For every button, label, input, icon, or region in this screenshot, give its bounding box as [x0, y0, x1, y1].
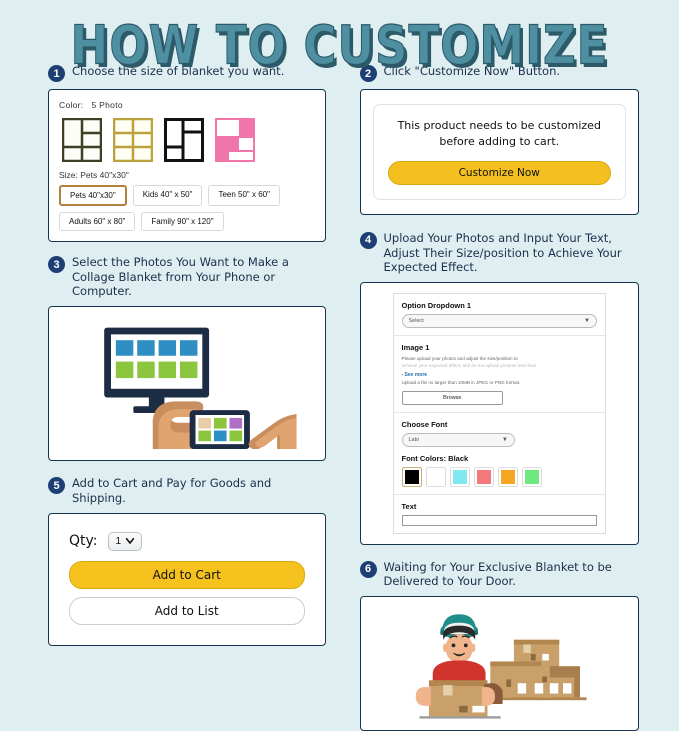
chevron-down-icon: ▼	[584, 318, 590, 324]
quantity-row: Qty: 1	[69, 532, 305, 551]
layout-thumbnail-gold[interactable]	[110, 115, 152, 161]
browse-button[interactable]: Browse	[402, 391, 504, 405]
page-header: HOW TO CUSTOMIZE	[0, 0, 679, 64]
customize-message: This product needs to be customized befo…	[388, 118, 612, 150]
option-dropdown-select[interactable]: Select ▼	[402, 314, 598, 328]
left-column: 1 Choose the size of blanket you want. C…	[14, 64, 340, 731]
font-section: Choose Font Lato ▼ Font Colors: Black	[394, 413, 606, 495]
option-dropdown-section: Option Dropdown 1 Select ▼	[394, 294, 606, 336]
step-4-panel: Option Dropdown 1 Select ▼ Image 1 Pleas…	[360, 282, 640, 545]
step-3-header: 3 Select the Photos You Want to Make a C…	[48, 255, 326, 299]
collage-selection-illustration	[55, 313, 319, 449]
font-value: Lato	[409, 437, 420, 443]
customize-prompt-card: This product needs to be customized befo…	[373, 104, 627, 200]
image-heading: Image 1	[402, 343, 598, 352]
step-3-panel	[48, 306, 326, 461]
step-6-panel	[360, 596, 640, 731]
swatch-black[interactable]	[402, 467, 422, 487]
chevron-down-icon	[126, 536, 134, 547]
step-6-number: 6	[360, 561, 377, 578]
color-value: 5 Photo	[91, 100, 122, 110]
chevron-down-icon: ▼	[502, 437, 508, 443]
step-3-number: 3	[48, 256, 65, 273]
quantity-value: 1	[116, 536, 122, 547]
text-heading: Text	[402, 502, 598, 511]
customizer-form: Option Dropdown 1 Select ▼ Image 1 Pleas…	[393, 293, 607, 534]
customize-now-button[interactable]: Customize Now	[388, 161, 612, 185]
font-select[interactable]: Lato ▼	[402, 433, 515, 447]
color-label: Color:	[59, 100, 83, 110]
image-upload-section: Image 1 Please upload your photos and ad…	[394, 336, 606, 413]
step-5-header: 5 Add to Cart and Pay for Goods and Ship…	[48, 476, 326, 505]
size-option-family[interactable]: Family 90" x 120"	[141, 212, 223, 231]
swatch-salmon[interactable]	[474, 467, 494, 487]
step-5-panel: Qty: 1 Add to Cart Add to List	[48, 513, 326, 646]
right-column: 2 Click "Customize Now" Button. This pro…	[340, 64, 666, 731]
font-color-swatches	[402, 467, 598, 487]
page-title: HOW TO CUSTOMIZE	[71, 14, 609, 77]
step-2-panel: This product needs to be customized befo…	[360, 89, 640, 215]
swatch-green[interactable]	[522, 467, 542, 487]
step-6-text: Waiting for Your Exclusive Blanket to be…	[384, 560, 640, 589]
swatch-cyan[interactable]	[450, 467, 470, 487]
layout-thumbnail-list	[59, 115, 315, 161]
size-option-adults[interactable]: Adults 60" x 80"	[59, 212, 135, 231]
add-to-cart-button[interactable]: Add to Cart	[69, 561, 305, 589]
size-option-teen[interactable]: Teen 50" x 60"	[208, 185, 280, 206]
quantity-stepper[interactable]: 1	[108, 532, 143, 551]
step-4-header: 4 Upload Your Photos and Input Your Text…	[360, 231, 640, 275]
swatch-orange[interactable]	[498, 467, 518, 487]
option-dropdown-heading: Option Dropdown 1	[402, 301, 598, 310]
upload-note: Upload a file no larger than 10MB in JPE…	[402, 380, 598, 387]
image-help-line-2: achieve your expected effect, and do not…	[402, 363, 598, 370]
step-1-number: 1	[48, 65, 65, 82]
layout-thumbnail-dark-olive[interactable]	[59, 115, 101, 161]
size-option-pets[interactable]: Pets 40"x30"	[59, 185, 127, 206]
font-colors-heading: Font Colors: Black	[402, 454, 598, 463]
color-label-row: Color: 5 Photo	[59, 100, 315, 110]
step-4-number: 4	[360, 232, 377, 249]
delivery-illustration	[366, 602, 634, 720]
step-5-number: 5	[48, 477, 65, 494]
add-to-list-button[interactable]: Add to List	[69, 597, 305, 625]
swatch-white[interactable]	[426, 467, 446, 487]
text-input[interactable]	[402, 515, 598, 526]
image-help-line-1: Please upload your photos and adjust the…	[402, 356, 598, 363]
size-label: Size: Pets 40"x30"	[59, 170, 315, 180]
layout-thumbnail-black[interactable]	[161, 115, 203, 161]
step-3-text: Select the Photos You Want to Make a Col…	[72, 255, 326, 299]
layout-thumbnail-pink[interactable]	[212, 115, 254, 161]
step-6-header: 6 Waiting for Your Exclusive Blanket to …	[360, 560, 640, 589]
size-option-kids[interactable]: Kids 40" x 50"	[133, 185, 203, 206]
see-more-link[interactable]: - See more	[402, 372, 598, 378]
choose-font-heading: Choose Font	[402, 420, 598, 429]
quantity-label: Qty:	[69, 533, 98, 549]
step-1-panel: Color: 5 Photo	[48, 89, 326, 242]
step-4-text: Upload Your Photos and Input Your Text, …	[384, 231, 640, 275]
size-options: Pets 40"x30" Kids 40" x 50" Teen 50" x 6…	[59, 185, 315, 231]
steps-grid: 1 Choose the size of blanket you want. C…	[0, 64, 679, 731]
step-5-text: Add to Cart and Pay for Goods and Shippi…	[72, 476, 326, 505]
text-section: Text	[394, 495, 606, 533]
option-dropdown-value: Select	[409, 318, 424, 324]
